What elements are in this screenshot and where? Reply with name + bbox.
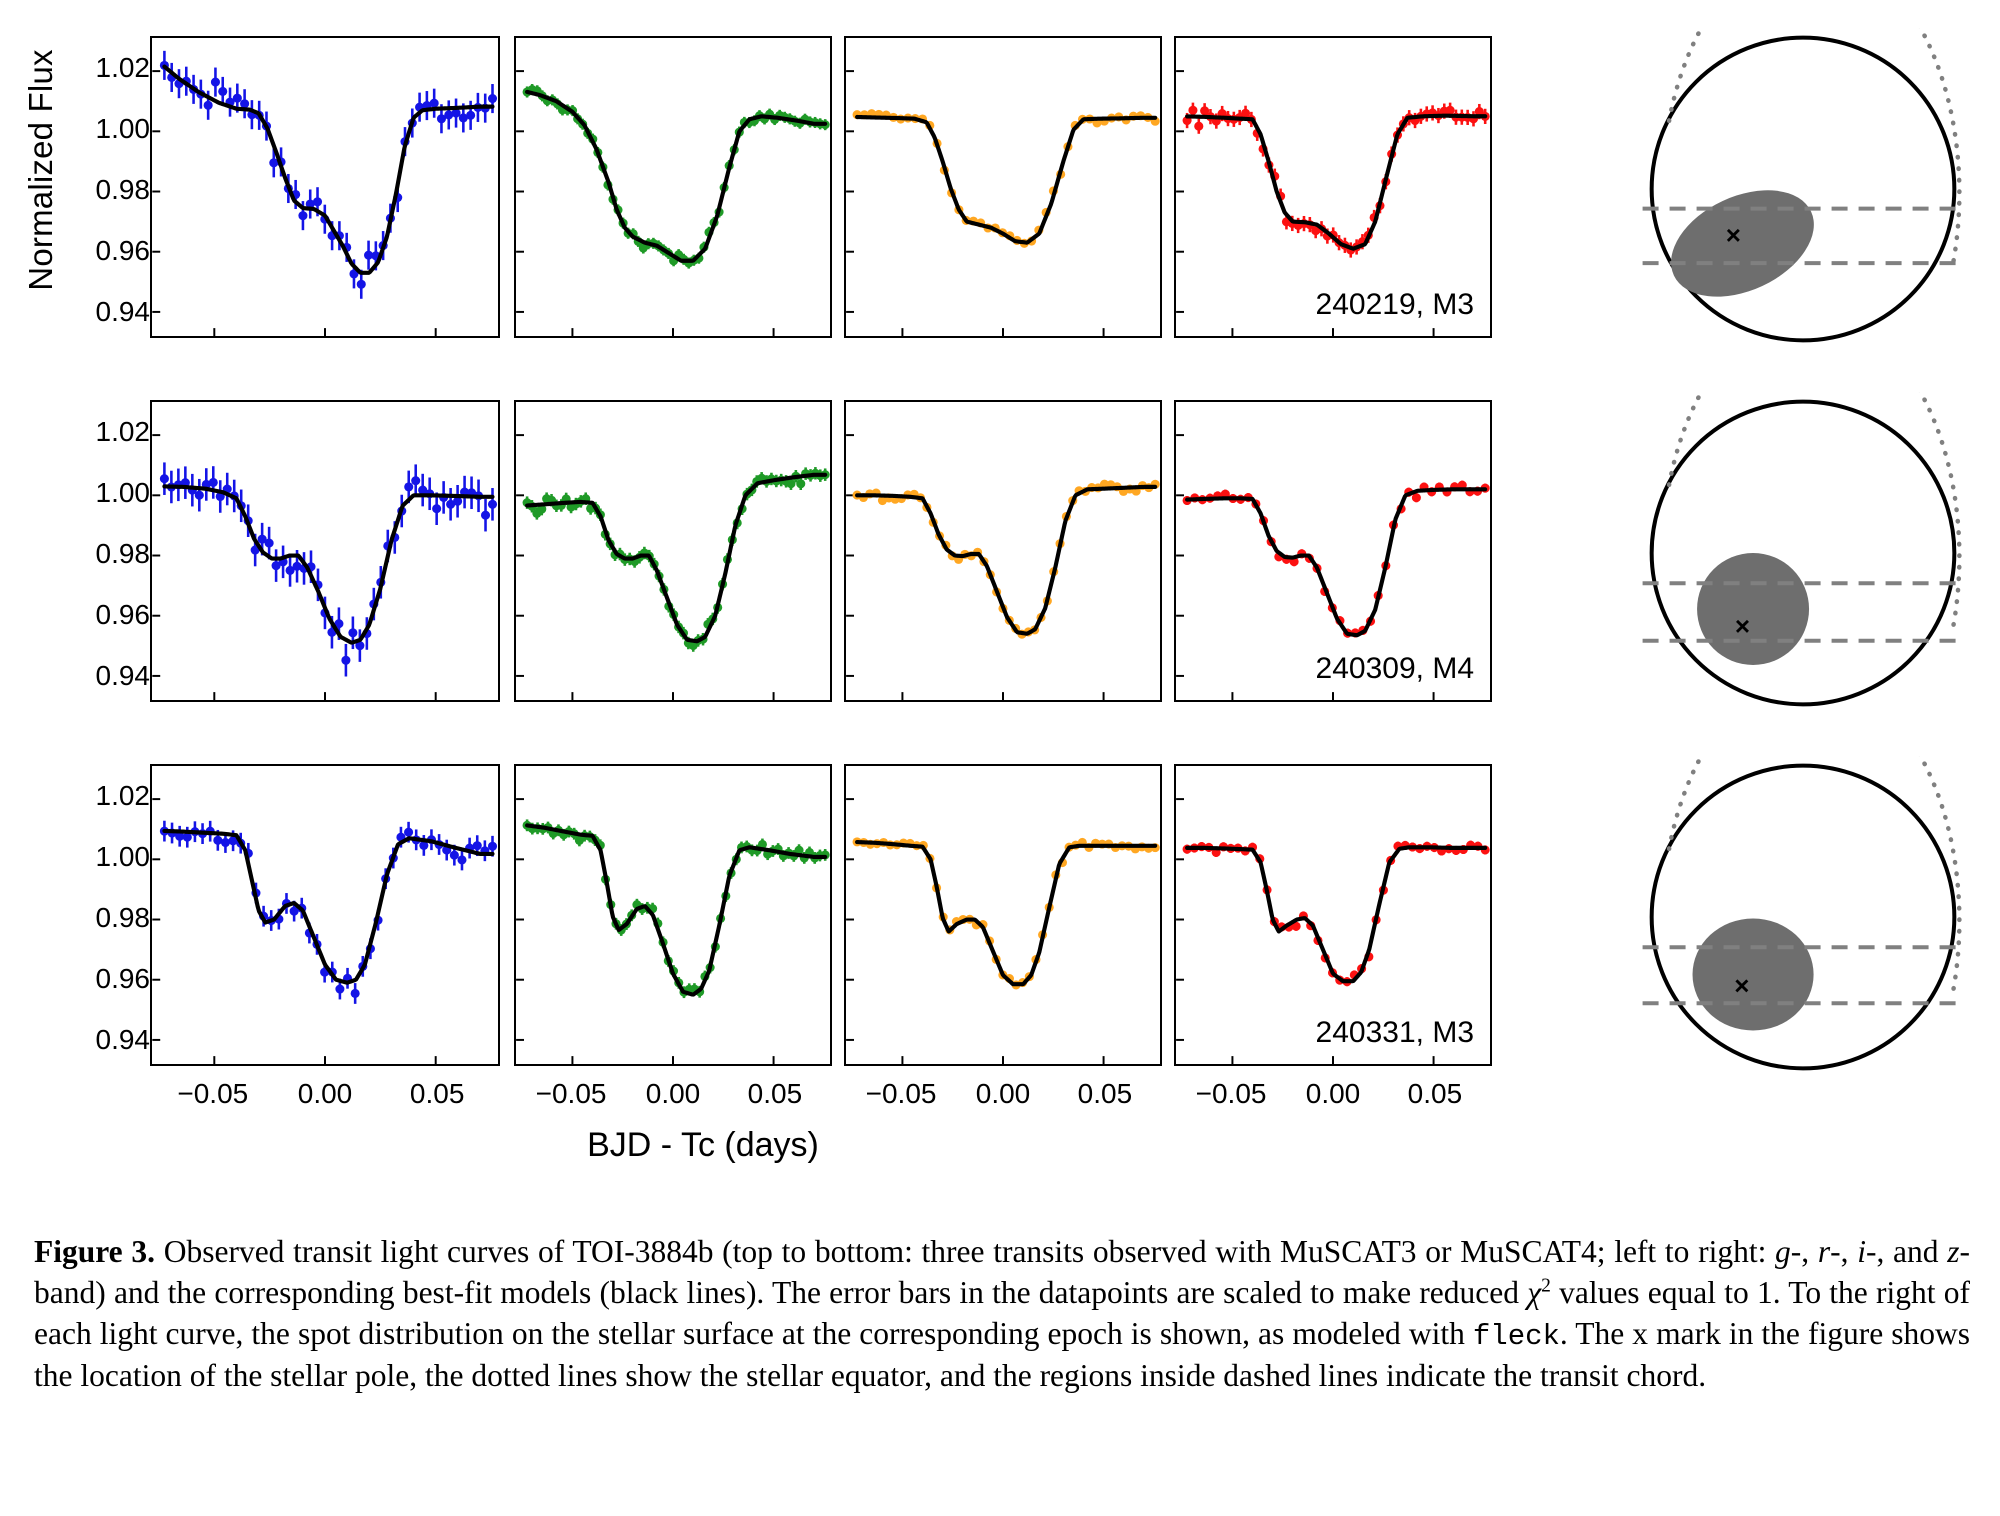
x-axis-label: BJD - Tc (days) [503, 1126, 903, 1165]
figure-number: Figure 3. [34, 1234, 155, 1269]
y-axis-label: Normalized Flux [22, 0, 60, 340]
y-tick-label: 0.94 [96, 296, 151, 328]
x-tick-label: 0.05 [1375, 1078, 1495, 1110]
y-tick-group: 0.940.960.981.001.02 [58, 764, 150, 1066]
x-tick-label: 0.00 [265, 1078, 385, 1110]
y-tick-label: 1.00 [96, 113, 151, 145]
figure-3-root: Normalized Flux 0.940.960.981.001.020.94… [0, 0, 2000, 1516]
lightcurve-panel-i-row2 [844, 400, 1162, 702]
figure-caption: Figure 3. Observed transit light curves … [34, 1232, 1970, 1397]
y-tick-label: 0.96 [96, 599, 151, 631]
epoch-label-row1: 240219, M3 [1174, 288, 1474, 322]
y-tick-label: 0.98 [96, 902, 151, 934]
x-tick-label: 0.05 [715, 1078, 835, 1110]
y-tick-label: 0.96 [96, 963, 151, 995]
lightcurve-panel-i-row3 [844, 764, 1162, 1066]
stellar-disk-row2: × [1620, 392, 1986, 714]
y-tick-label: 1.02 [96, 416, 151, 448]
x-tick-label: 0.05 [1045, 1078, 1165, 1110]
stellar-disk-row1: × [1620, 28, 1986, 350]
y-tick-label: 1.02 [96, 780, 151, 812]
y-tick-label: 1.02 [96, 52, 151, 84]
y-tick-label: 0.94 [96, 1024, 151, 1056]
epoch-label-row3: 240331, M3 [1174, 1016, 1474, 1050]
lightcurve-panel-r-row2 [514, 400, 832, 702]
lightcurve-panel-g-row1 [150, 36, 500, 338]
y-tick-label: 0.94 [96, 660, 151, 692]
plot-grid: Normalized Flux 0.940.960.981.001.020.94… [0, 0, 2000, 1200]
y-tick-label: 0.96 [96, 235, 151, 267]
svg-text:×: × [1734, 971, 1749, 1001]
x-tick-label: −0.05 [153, 1078, 273, 1110]
y-tick-label: 0.98 [96, 538, 151, 570]
y-tick-label: 1.00 [96, 477, 151, 509]
y-tick-label: 0.98 [96, 174, 151, 206]
epoch-label-row2: 240309, M4 [1174, 652, 1474, 686]
y-tick-label: 1.00 [96, 841, 151, 873]
x-tick-label: 0.05 [377, 1078, 497, 1110]
svg-text:×: × [1726, 220, 1741, 250]
stellar-disk-row3: × [1620, 756, 1986, 1078]
y-tick-group: 0.940.960.981.001.02 [58, 36, 150, 338]
lightcurve-panel-r-row1 [514, 36, 832, 338]
lightcurve-panel-r-row3 [514, 764, 832, 1066]
y-tick-group: 0.940.960.981.001.02 [58, 400, 150, 702]
lightcurve-panel-g-row2 [150, 400, 500, 702]
svg-text:×: × [1735, 611, 1750, 641]
lightcurve-panel-i-row1 [844, 36, 1162, 338]
lightcurve-panel-g-row3 [150, 764, 500, 1066]
caption-body: Observed transit light curves of TOI-388… [34, 1234, 1970, 1393]
